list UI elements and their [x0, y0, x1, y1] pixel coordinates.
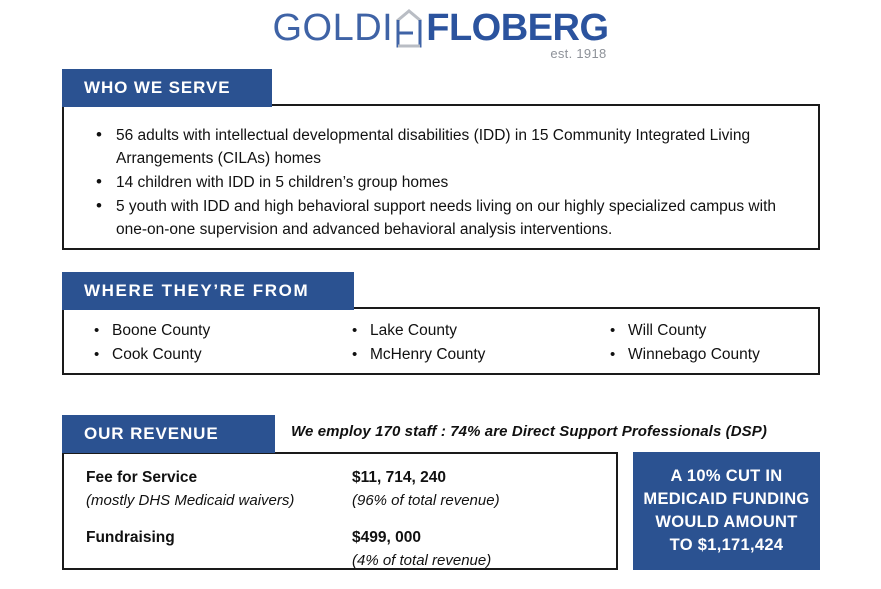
list-item: Winnebago County	[606, 344, 760, 367]
revenue-percent: (96% of total revenue)	[352, 489, 500, 512]
revenue-amount: $499, 000	[352, 526, 491, 549]
who-we-serve-box: 56 adults with intellectual developmenta…	[62, 104, 820, 250]
revenue-value-cell: $499, 000 (4% of total revenue)	[352, 526, 491, 572]
revenue-label: Fundraising	[86, 526, 352, 549]
list-item: 5 youth with IDD and high behavioral sup…	[88, 195, 788, 241]
table-row: Fundraising $499, 000 (4% of total reven…	[86, 526, 606, 572]
medicaid-cut-callout: A 10% CUT IN MEDICAID FUNDING WOULD AMOU…	[633, 452, 820, 570]
where-theyre-from-box: Boone County Cook County Lake County McH…	[62, 307, 820, 375]
who-we-serve-list: 56 adults with intellectual developmenta…	[88, 124, 788, 242]
revenue-value-cell: $11, 714, 240 (96% of total revenue)	[352, 466, 500, 512]
list-item: Cook County	[90, 344, 348, 367]
logo-established: est. 1918	[550, 46, 606, 61]
counties-list: Boone County Cook County	[90, 320, 348, 366]
revenue-label-cell: Fee for Service (mostly DHS Medicaid wai…	[86, 466, 352, 512]
counties-columns: Boone County Cook County Lake County McH…	[90, 320, 808, 367]
our-revenue-box: Fee for Service (mostly DHS Medicaid wai…	[62, 452, 618, 570]
our-revenue-header: OUR REVENUE	[62, 415, 275, 453]
house-e-icon	[394, 8, 424, 48]
revenue-sublabel: (mostly DHS Medicaid waivers)	[86, 489, 352, 512]
staff-note: We employ 170 staff : 74% are Direct Sup…	[291, 423, 767, 440]
revenue-table: Fee for Service (mostly DHS Medicaid wai…	[86, 466, 606, 572]
list-item: 14 children with IDD in 5 children’s gro…	[88, 171, 788, 194]
who-we-serve-header: WHO WE SERVE	[62, 69, 272, 107]
list-item: Will County	[606, 320, 760, 343]
revenue-label: Fee for Service	[86, 466, 352, 489]
list-item: Boone County	[90, 320, 348, 343]
list-item: Lake County	[348, 320, 606, 343]
logo-word-goldie: GOLDI	[272, 8, 393, 48]
list-item: 56 adults with intellectual developmenta…	[88, 124, 788, 170]
revenue-label-cell: Fundraising	[86, 526, 352, 572]
where-theyre-from-header: WHERE THEY’RE FROM	[62, 272, 354, 310]
counties-column-3: Will County Winnebago County	[606, 320, 760, 367]
counties-column-2: Lake County McHenry County	[348, 320, 606, 367]
counties-list: Lake County McHenry County	[348, 320, 606, 366]
logo-word-floberg: FLOBERG	[426, 8, 608, 48]
revenue-percent: (4% of total revenue)	[352, 549, 491, 572]
counties-list: Will County Winnebago County	[606, 320, 760, 366]
revenue-amount: $11, 714, 240	[352, 466, 500, 489]
brand-logo: GOLDI FLOBERG est. 1918	[0, 8, 881, 66]
counties-column-1: Boone County Cook County	[90, 320, 348, 367]
callout-text: A 10% CUT IN MEDICAID FUNDING WOULD AMOU…	[643, 465, 809, 557]
list-item: McHenry County	[348, 344, 606, 367]
table-row: Fee for Service (mostly DHS Medicaid wai…	[86, 466, 606, 512]
